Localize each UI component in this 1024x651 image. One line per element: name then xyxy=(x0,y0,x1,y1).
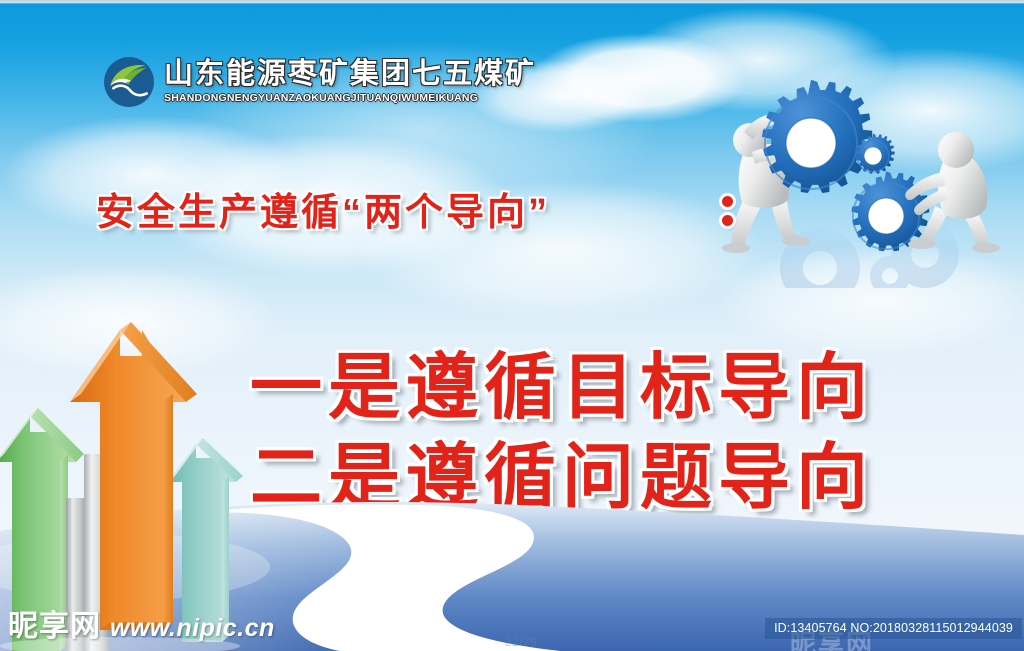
site-watermark-url: www.nipic.cn xyxy=(110,614,275,643)
brand-name-pinyin: SHANDONGNENGYUANZAOKUANGJITUANQIWUMEIKUA… xyxy=(164,93,536,104)
gears-and-figures-icon xyxy=(708,48,1024,268)
brand-name-block: 山东能源枣矿集团七五煤矿 SHANDONGNENGYUANZAOKUANGJIT… xyxy=(164,60,536,104)
page-mark: 22/79 xyxy=(505,635,538,649)
circle-leaf-wave-logo-icon xyxy=(103,56,155,108)
site-watermark: 昵享网 www.nipic.cn xyxy=(8,601,275,645)
brand-logo-block: 山东能源枣矿集团七五煤矿 SHANDONGNENGYUANZAOKUANGJIT… xyxy=(103,56,536,108)
brand-name-cn: 山东能源枣矿集团七五煤矿 xyxy=(164,60,536,89)
poster-canvas: 山东能源枣矿集团七五煤矿 SHANDONGNENGYUANZAOKUANGJIT… xyxy=(0,0,1024,651)
site-watermark-cn: 昵享网 xyxy=(8,601,101,645)
red-dot-colon-icon xyxy=(722,196,733,226)
slogan-text: 安全生产遵循“两个导向” xyxy=(96,181,550,236)
gear-large-icon xyxy=(762,80,872,193)
id-badge: ID:13405764 NO:20180328115012944039 xyxy=(765,618,1022,639)
gear-illustration xyxy=(708,48,1024,268)
top-edge-highlight xyxy=(0,0,1024,4)
